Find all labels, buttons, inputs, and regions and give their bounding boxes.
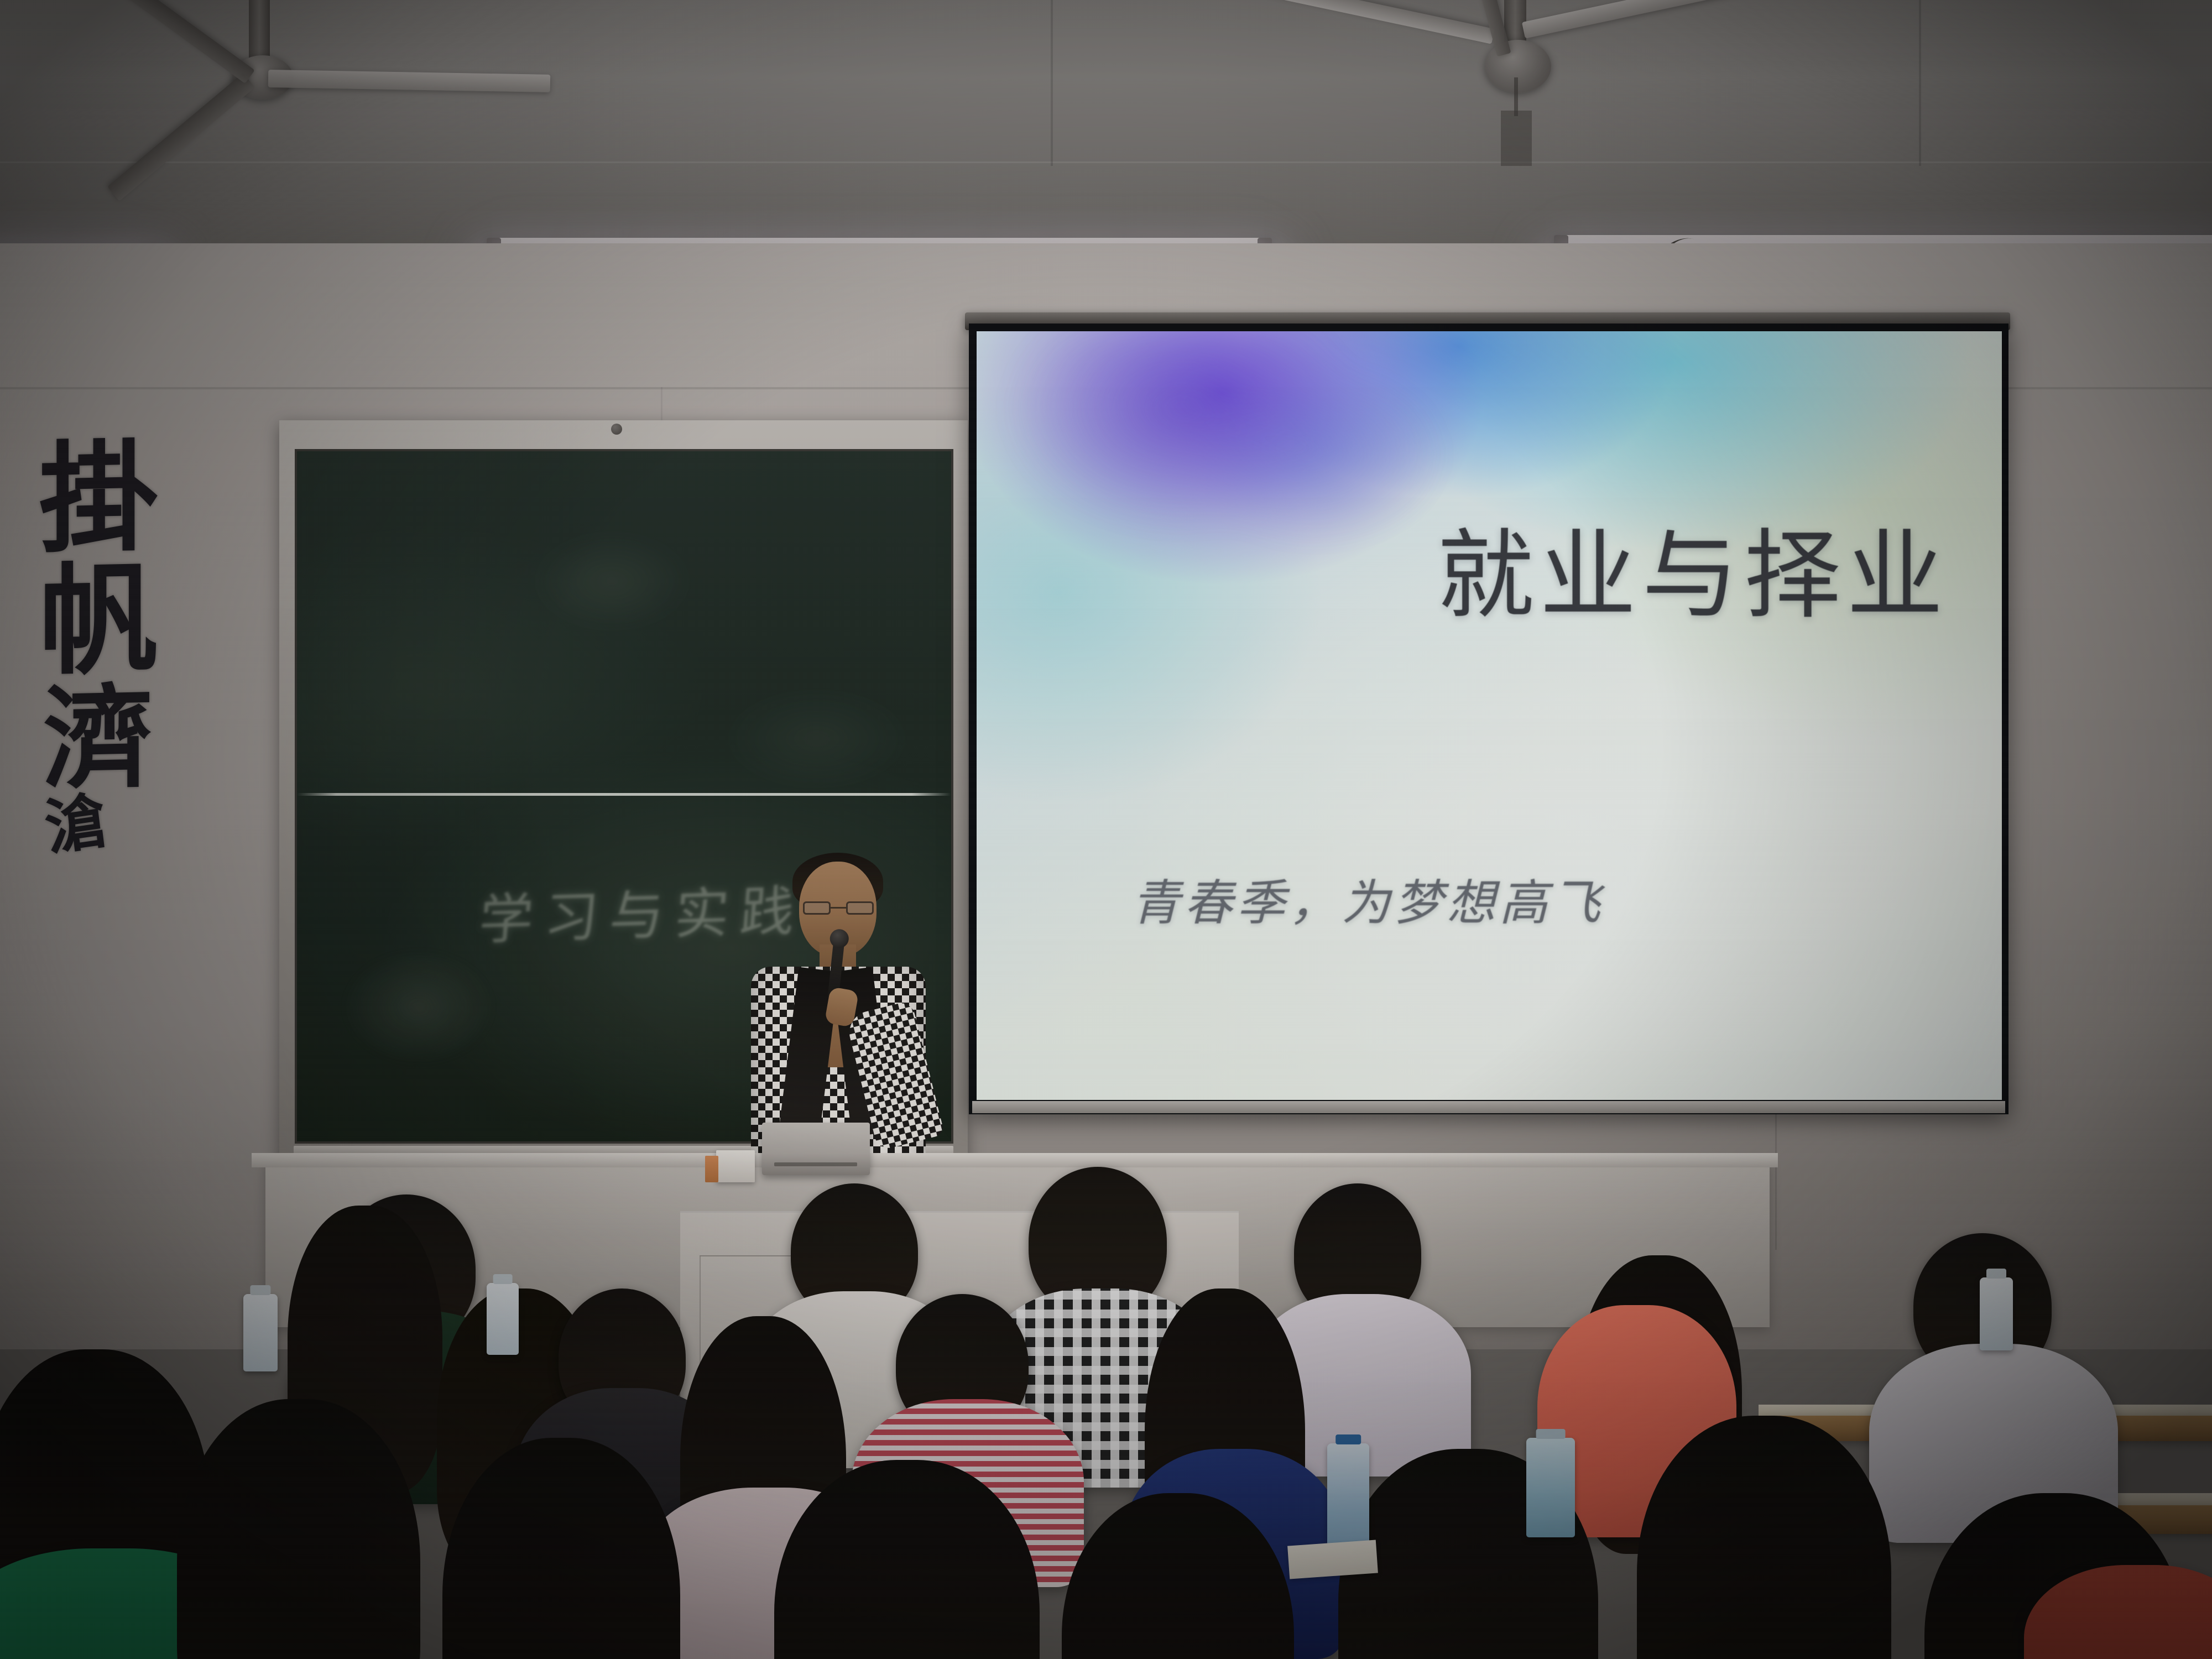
projection-screen: 就业与择业 青春季，为梦想高飞 (969, 324, 2008, 1114)
glasses-bridge (831, 907, 846, 909)
fan-downrod (249, 0, 270, 61)
fan-blade (1522, 0, 1774, 39)
projected-slide: 就业与择业 青春季，为梦想高飞 (977, 331, 2002, 1100)
lectern-laptop[interactable] (762, 1123, 870, 1175)
paper-sheet[interactable] (1287, 1540, 1378, 1579)
wall-calligraphy: 掛 帆 濟 滄 (10, 435, 187, 857)
chalk-smudge (529, 529, 695, 634)
chalk-smudge (341, 949, 496, 1065)
calligraphy-char-1: 掛 (10, 435, 187, 561)
water-bottle[interactable] (487, 1283, 519, 1355)
chalk-box-lid[interactable] (705, 1156, 718, 1182)
podium-ledge (252, 1153, 1778, 1167)
fan-blade (1264, 0, 1495, 44)
ceiling-seam (0, 161, 2212, 163)
ceiling-fan-left (166, 0, 719, 111)
bottle-cap (250, 1285, 270, 1295)
bottle-cap (1986, 1269, 2006, 1279)
ceiling-fan-right (1272, 0, 1936, 122)
thermos-flask[interactable] (1526, 1438, 1575, 1537)
chalkboard-panel-divider (297, 793, 951, 796)
water-bottle[interactable] (243, 1294, 278, 1371)
presenter-glasses (803, 901, 874, 916)
glasses-lens-right (846, 901, 874, 915)
chalkboard-screw (611, 424, 622, 435)
glasses-lens-left (803, 901, 831, 915)
fan-pull-weight[interactable] (1501, 111, 1532, 166)
bottle-cap (1335, 1434, 1361, 1444)
flask-lid (1536, 1429, 1566, 1439)
classroom-photo: 掛 帆 濟 滄 学习与实践 就业与择业 青春季，为梦想高飞 (0, 0, 2212, 1659)
fan-blade (268, 70, 550, 92)
projection-screen-weight-bar (972, 1101, 2005, 1113)
slide-subtitle: 青春季，为梦想高飞 (1131, 864, 1604, 934)
chalk-box[interactable] (716, 1150, 755, 1182)
ceiling-joint-vertical (1051, 0, 1053, 166)
water-bottle[interactable] (1980, 1277, 2013, 1350)
calligraphy-char-2: 帆 (10, 557, 187, 684)
chalk-smudge (717, 684, 916, 794)
bottle-cap (493, 1274, 513, 1284)
slide-title: 就业与择业 (1437, 497, 1949, 637)
